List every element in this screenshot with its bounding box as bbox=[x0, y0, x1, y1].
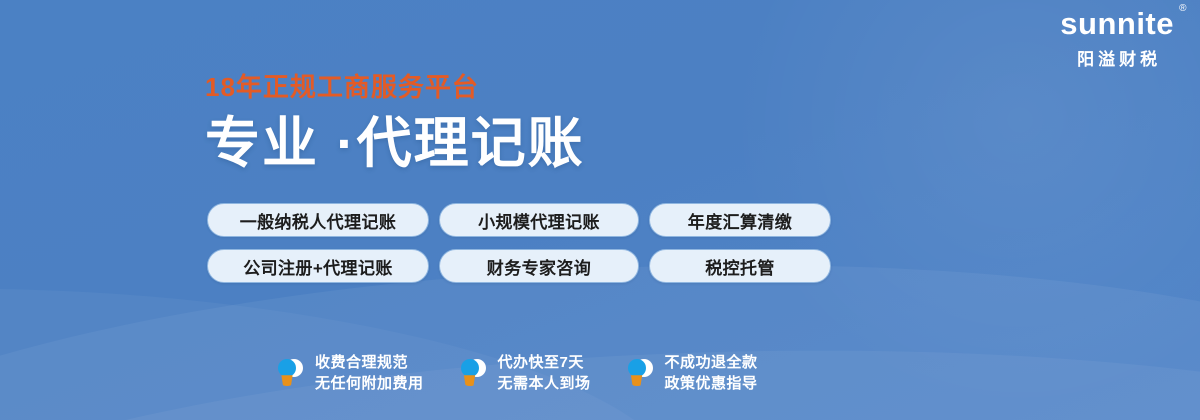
icon-orange-base bbox=[630, 375, 644, 386]
feature-line-2: 无任何附加费用 bbox=[315, 373, 424, 394]
service-pill-finance-expert-consulting[interactable]: 财务专家咨询 bbox=[439, 249, 639, 283]
icon-blue-circle bbox=[461, 359, 479, 377]
logo-wordmark-text: sunnite bbox=[1060, 6, 1174, 41]
feature-line-1: 代办快至7天 bbox=[498, 352, 591, 373]
feature-line-2: 政策优惠指导 bbox=[665, 373, 758, 394]
feature-line-2: 无需本人到场 bbox=[498, 373, 591, 394]
feature-item-speed: 代办快至7天 无需本人到场 bbox=[459, 352, 591, 395]
feature-text-speed: 代办快至7天 无需本人到场 bbox=[498, 352, 591, 395]
icon-orange-base bbox=[280, 375, 294, 386]
feature-text-pricing: 收费合理规范 无任何附加费用 bbox=[315, 352, 424, 395]
feature-item-guarantee: 不成功退全款 政策优惠指导 bbox=[626, 352, 758, 395]
service-pill-grid: 一般纳税人代理记账 小规模代理记账 年度汇算清缴 公司注册+代理记账 财务专家咨… bbox=[207, 203, 841, 283]
eyebrow-tagline: 18年正规工商服务平台 bbox=[205, 74, 585, 100]
promo-banner: sunnite ® 阳溢财税 18年正规工商服务平台 专业 ·代理记账 一般纳税… bbox=[0, 0, 1200, 420]
registered-trademark-icon: ® bbox=[1179, 4, 1187, 15]
icon-orange-base bbox=[463, 375, 477, 386]
feature-item-pricing: 收费合理规范 无任何附加费用 bbox=[276, 352, 424, 395]
insight-bulb-icon bbox=[626, 357, 656, 389]
icon-blue-circle bbox=[628, 359, 646, 377]
service-pill-company-registration-bookkeeping[interactable]: 公司注册+代理记账 bbox=[207, 249, 429, 283]
feature-line-1: 不成功退全款 bbox=[665, 352, 758, 373]
insight-bulb-icon bbox=[459, 357, 489, 389]
service-pill-small-scale-bookkeeping[interactable]: 小规模代理记账 bbox=[439, 203, 639, 237]
brand-logo[interactable]: sunnite ® 阳溢财税 bbox=[1060, 8, 1174, 70]
feature-line-1: 收费合理规范 bbox=[315, 352, 424, 373]
service-pill-tax-control-hosting[interactable]: 税控托管 bbox=[649, 249, 831, 283]
logo-chinese-name: 阳溢财税 bbox=[1060, 45, 1174, 70]
service-pill-row-2: 公司注册+代理记账 财务专家咨询 税控托管 bbox=[207, 249, 841, 283]
service-pill-row-1: 一般纳税人代理记账 小规模代理记账 年度汇算清缴 bbox=[207, 203, 841, 237]
insight-bulb-icon bbox=[276, 357, 306, 389]
service-pill-annual-tax-settlement[interactable]: 年度汇算清缴 bbox=[649, 203, 831, 237]
logo-wordmark: sunnite ® bbox=[1060, 8, 1174, 41]
service-pill-general-taxpayer-bookkeeping[interactable]: 一般纳税人代理记账 bbox=[207, 203, 429, 237]
feature-text-guarantee: 不成功退全款 政策优惠指导 bbox=[665, 352, 758, 395]
page-title: 专业 ·代理记账 bbox=[205, 114, 585, 173]
headline-block: 18年正规工商服务平台 专业 ·代理记账 bbox=[205, 74, 585, 173]
feature-strip: 收费合理规范 无任何附加费用 代办快至7天 无需本人到场 不成功退全款 bbox=[276, 352, 758, 395]
